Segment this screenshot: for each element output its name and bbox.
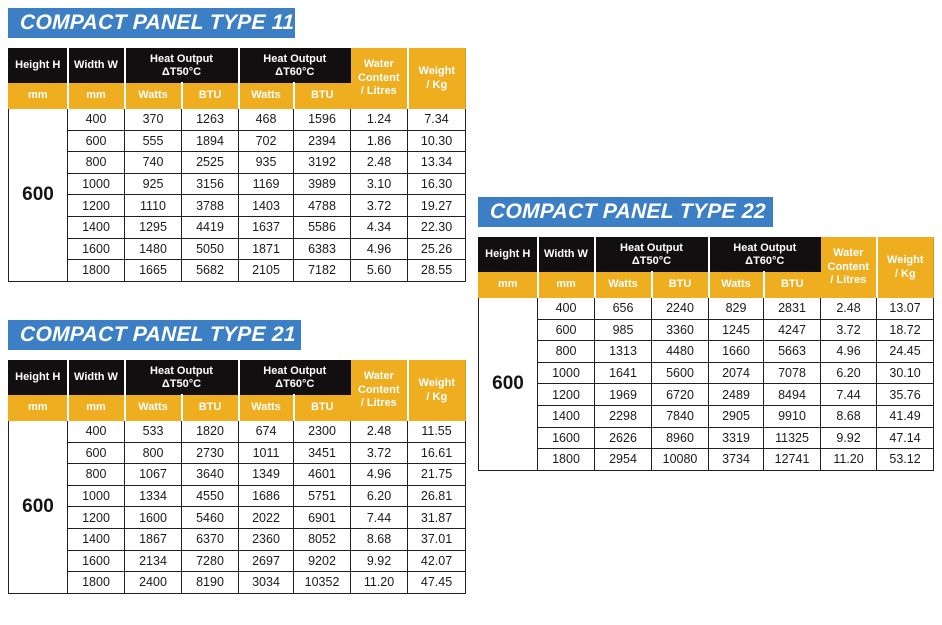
cell-btu-dt50: 3640	[182, 464, 239, 486]
table-row: 800740252593531922.4813.34	[9, 152, 466, 174]
col-width-w: Width W	[538, 238, 595, 272]
cell-btu-dt60: 1596	[294, 109, 351, 131]
dt60-label: ΔT60°C	[240, 378, 351, 391]
weight-line-2: / Kg	[409, 391, 466, 404]
cell-watts-dt50: 1295	[125, 216, 182, 238]
cell-btu-dt60: 10352	[294, 572, 351, 594]
cell-water-content: 6.20	[821, 362, 877, 384]
cell-weight: 16.61	[408, 442, 466, 464]
cell-watts-dt60: 674	[239, 421, 294, 443]
unit-height-mm: mm	[479, 272, 538, 298]
dt50-label: ΔT50°C	[596, 255, 708, 268]
cell-width: 1200	[68, 507, 125, 529]
cell-watts-dt50: 656	[595, 298, 652, 320]
table-type-22: Height H Width W Heat Output ΔT50°C Heat…	[478, 237, 934, 471]
water-line-3: / Litres	[351, 85, 407, 98]
cell-water-content: 4.34	[351, 216, 408, 238]
heat-output-label: Heat Output	[126, 53, 238, 66]
cell-btu-dt50: 8960	[652, 427, 709, 449]
cell-water-content: 4.96	[351, 464, 408, 486]
cell-btu-dt60: 2831	[764, 298, 821, 320]
cell-width: 800	[68, 152, 125, 174]
unit-width-mm: mm	[68, 395, 125, 421]
cell-width: 400	[68, 421, 125, 443]
cell-btu-dt50: 10080	[652, 449, 709, 471]
cell-btu-dt50: 4550	[182, 485, 239, 507]
col-height-h: Height H	[9, 361, 68, 395]
table-row: 80013134480166056634.9624.45	[479, 341, 934, 363]
unit-watts-dt60: Watts	[709, 272, 764, 298]
dt60-label: ΔT60°C	[240, 66, 351, 79]
cell-weight: 24.45	[877, 341, 934, 363]
cell-watts-dt60: 1245	[709, 319, 764, 341]
cell-btu-dt50: 8190	[182, 572, 239, 594]
table-row: 10009253156116939893.1016.30	[9, 173, 466, 195]
cell-weight: 10.30	[408, 130, 466, 152]
cell-btu-dt50: 1894	[182, 130, 239, 152]
cell-water-content: 4.96	[821, 341, 877, 363]
cell-water-content: 11.20	[821, 449, 877, 471]
table-row: 140022987840290599108.6841.49	[479, 405, 934, 427]
cell-width: 1000	[68, 485, 125, 507]
table-row: 180029541008037341274111.2053.12	[479, 449, 934, 471]
cell-weight: 16.30	[408, 173, 466, 195]
cell-water-content: 7.44	[821, 384, 877, 406]
table-row: 600400533182067423002.4811.55	[9, 421, 466, 443]
cell-btu-dt60: 9202	[294, 550, 351, 572]
cell-btu-dt60: 4247	[764, 319, 821, 341]
cell-weight: 42.07	[408, 550, 466, 572]
cell-btu-dt60: 2300	[294, 421, 351, 443]
table-body-type-22: 600400656224082928312.4813.0760098533601…	[479, 298, 934, 471]
cell-btu-dt60: 5586	[294, 216, 351, 238]
cell-width: 1400	[538, 405, 595, 427]
col-heat-output-dt50: Heat Output ΔT50°C	[595, 238, 709, 272]
cell-watts-dt50: 2134	[125, 550, 182, 572]
unit-watts-dt50: Watts	[125, 83, 182, 109]
weight-line-1: Weight	[409, 377, 466, 390]
cell-weight: 13.34	[408, 152, 466, 174]
cell-water-content: 2.48	[821, 298, 877, 320]
col-height-h: Height H	[479, 238, 538, 272]
cell-width: 1400	[68, 216, 125, 238]
banner-type-22: COMPACT PANEL TYPE 22	[478, 197, 773, 227]
table-header-row-1: Height H Width W Heat Output ΔT50°C Heat…	[9, 361, 466, 395]
banner-title-type-22: COMPACT PANEL TYPE 22	[490, 200, 767, 224]
unit-width-mm: mm	[538, 272, 595, 298]
cell-width: 800	[538, 341, 595, 363]
water-line-1: Water	[351, 58, 407, 71]
cell-weight: 21.75	[408, 464, 466, 486]
cell-weight: 35.76	[877, 384, 934, 406]
cell-btu-dt50: 5682	[182, 260, 239, 282]
cell-weight: 22.30	[408, 216, 466, 238]
table-header-row-1: Height H Width W Heat Output ΔT50°C Heat…	[479, 238, 934, 272]
cell-weight: 41.49	[877, 405, 934, 427]
cell-water-content: 3.72	[351, 195, 408, 217]
table-row: 100016415600207470786.2030.10	[479, 362, 934, 384]
cell-watts-dt60: 2489	[709, 384, 764, 406]
heat-output-label: Heat Output	[596, 242, 708, 255]
table-type-21: Height H Width W Heat Output ΔT50°C Heat…	[8, 360, 466, 594]
cell-watts-dt50: 1334	[125, 485, 182, 507]
unit-btu-dt60: BTU	[294, 83, 351, 109]
cell-btu-dt50: 1820	[182, 421, 239, 443]
cell-width: 1800	[68, 260, 125, 282]
col-heat-output-dt50: Heat Output ΔT50°C	[125, 361, 239, 395]
water-line-1: Water	[821, 247, 876, 260]
cell-width: 1800	[68, 572, 125, 594]
table-row: 80010673640134946014.9621.75	[9, 464, 466, 486]
cell-weight: 47.45	[408, 572, 466, 594]
col-heat-output-dt60: Heat Output ΔT60°C	[239, 361, 351, 395]
water-line-2: Content	[821, 261, 876, 274]
cell-btu-dt60: 8052	[294, 528, 351, 550]
cell-watts-dt50: 1067	[125, 464, 182, 486]
cell-watts-dt60: 2074	[709, 362, 764, 384]
panel-specification-sheet: COMPACT PANEL TYPE 11 Height H Width W H…	[0, 0, 942, 625]
cell-water-content: 3.72	[821, 319, 877, 341]
unit-btu-dt50: BTU	[182, 395, 239, 421]
cell-width: 400	[68, 109, 125, 131]
table-row: 600400656224082928312.4813.07	[479, 298, 934, 320]
cell-weight: 18.72	[877, 319, 934, 341]
cell-btu-dt50: 3156	[182, 173, 239, 195]
cell-width: 800	[68, 464, 125, 486]
cell-btu-dt50: 2525	[182, 152, 239, 174]
cell-watts-dt60: 1403	[239, 195, 294, 217]
cell-weight: 28.55	[408, 260, 466, 282]
weight-line-1: Weight	[878, 254, 934, 267]
cell-width: 1600	[68, 238, 125, 260]
water-line-3: / Litres	[821, 274, 876, 287]
banner-type-11: COMPACT PANEL TYPE 11	[8, 8, 295, 38]
cell-btu-dt60: 3451	[294, 442, 351, 464]
heat-output-label: Heat Output	[710, 242, 821, 255]
cell-water-content: 9.92	[351, 550, 408, 572]
cell-btu-dt50: 5600	[652, 362, 709, 384]
cell-btu-dt50: 5050	[182, 238, 239, 260]
cell-watts-dt60: 2105	[239, 260, 294, 282]
unit-width-mm: mm	[68, 83, 125, 109]
table-row: 600555189470223941.8610.30	[9, 130, 466, 152]
col-width-w: Width W	[68, 49, 125, 83]
cell-btu-dt50: 6720	[652, 384, 709, 406]
table-row: 6009853360124542473.7218.72	[479, 319, 934, 341]
cell-water-content: 8.68	[821, 405, 877, 427]
cell-btu-dt50: 2730	[182, 442, 239, 464]
cell-btu-dt50: 4480	[652, 341, 709, 363]
cell-water-content: 1.86	[351, 130, 408, 152]
unit-watts-dt50: Watts	[595, 272, 652, 298]
col-heat-output-dt50: Heat Output ΔT50°C	[125, 49, 239, 83]
cell-weight: 53.12	[877, 449, 934, 471]
banner-type-21: COMPACT PANEL TYPE 21	[8, 320, 301, 350]
cell-water-content: 2.48	[351, 152, 408, 174]
cell-water-content: 8.68	[351, 528, 408, 550]
cell-weight: 25.26	[408, 238, 466, 260]
cell-watts-dt60: 1871	[239, 238, 294, 260]
cell-width: 600	[538, 319, 595, 341]
cell-btu-dt50: 1263	[182, 109, 239, 131]
cell-btu-dt60: 8494	[764, 384, 821, 406]
unit-height-mm: mm	[9, 395, 68, 421]
cell-height-h: 600	[9, 421, 68, 594]
col-weight: Weight / Kg	[408, 361, 466, 421]
cell-weight: 37.01	[408, 528, 466, 550]
cell-watts-dt50: 2626	[595, 427, 652, 449]
cell-btu-dt50: 7840	[652, 405, 709, 427]
cell-watts-dt50: 1641	[595, 362, 652, 384]
cell-watts-dt50: 1600	[125, 507, 182, 529]
cell-btu-dt60: 6901	[294, 507, 351, 529]
cell-height-h: 600	[479, 298, 538, 471]
table-row: 120011103788140347883.7219.27	[9, 195, 466, 217]
cell-weight: 47.14	[877, 427, 934, 449]
cell-btu-dt60: 2394	[294, 130, 351, 152]
cell-watts-dt50: 555	[125, 130, 182, 152]
table-row: 120016005460202269017.4431.87	[9, 507, 466, 529]
cell-water-content: 4.96	[351, 238, 408, 260]
cell-btu-dt50: 6370	[182, 528, 239, 550]
cell-btu-dt60: 4601	[294, 464, 351, 486]
cell-btu-dt60: 9910	[764, 405, 821, 427]
cell-water-content: 3.10	[351, 173, 408, 195]
water-line-3: / Litres	[351, 397, 407, 410]
cell-water-content: 11.20	[351, 572, 408, 594]
banner-title-type-21: COMPACT PANEL TYPE 21	[20, 323, 297, 347]
weight-line-1: Weight	[409, 65, 466, 78]
table-row: 120019696720248984947.4435.76	[479, 384, 934, 406]
table-row: 160021347280269792029.9242.07	[9, 550, 466, 572]
cell-watts-dt60: 1660	[709, 341, 764, 363]
cell-watts-dt60: 829	[709, 298, 764, 320]
weight-line-2: / Kg	[409, 79, 466, 92]
cell-watts-dt60: 935	[239, 152, 294, 174]
cell-btu-dt50: 4419	[182, 216, 239, 238]
col-weight: Weight / Kg	[408, 49, 466, 109]
col-width-w: Width W	[68, 361, 125, 395]
cell-height-h: 600	[9, 109, 68, 282]
cell-btu-dt50: 5460	[182, 507, 239, 529]
heat-output-label: Heat Output	[240, 53, 351, 66]
col-water-content: Water Content / Litres	[351, 49, 408, 109]
cell-width: 600	[68, 130, 125, 152]
cell-btu-dt60: 3192	[294, 152, 351, 174]
cell-watts-dt60: 1637	[239, 216, 294, 238]
cell-watts-dt50: 925	[125, 173, 182, 195]
unit-btu-dt60: BTU	[764, 272, 821, 298]
cell-watts-dt50: 2954	[595, 449, 652, 471]
unit-watts-dt60: Watts	[239, 395, 294, 421]
cell-watts-dt50: 1867	[125, 528, 182, 550]
cell-watts-dt50: 1110	[125, 195, 182, 217]
cell-watts-dt60: 3734	[709, 449, 764, 471]
dt50-label: ΔT50°C	[126, 378, 238, 391]
cell-btu-dt60: 11325	[764, 427, 821, 449]
cell-watts-dt60: 2905	[709, 405, 764, 427]
cell-watts-dt60: 2022	[239, 507, 294, 529]
cell-water-content: 5.60	[351, 260, 408, 282]
col-weight: Weight / Kg	[877, 238, 934, 298]
cell-width: 1200	[68, 195, 125, 217]
cell-width: 400	[538, 298, 595, 320]
cell-btu-dt60: 5663	[764, 341, 821, 363]
weight-line-2: / Kg	[878, 268, 934, 281]
cell-width: 1800	[538, 449, 595, 471]
col-water-content: Water Content / Litres	[351, 361, 408, 421]
table-row: 1600262689603319113259.9247.14	[479, 427, 934, 449]
col-heat-output-dt60: Heat Output ΔT60°C	[239, 49, 351, 83]
cell-water-content: 3.72	[351, 442, 408, 464]
cell-watts-dt60: 1169	[239, 173, 294, 195]
cell-water-content: 1.24	[351, 109, 408, 131]
cell-width: 1000	[68, 173, 125, 195]
cell-watts-dt50: 800	[125, 442, 182, 464]
cell-water-content: 2.48	[351, 421, 408, 443]
cell-weight: 13.07	[877, 298, 934, 320]
cell-btu-dt60: 6383	[294, 238, 351, 260]
cell-watts-dt60: 3034	[239, 572, 294, 594]
cell-btu-dt50: 3360	[652, 319, 709, 341]
cell-watts-dt50: 1665	[125, 260, 182, 282]
unit-btu-dt50: BTU	[652, 272, 709, 298]
cell-watts-dt60: 3319	[709, 427, 764, 449]
cell-watts-dt50: 533	[125, 421, 182, 443]
cell-watts-dt60: 1686	[239, 485, 294, 507]
unit-btu-dt60: BTU	[294, 395, 351, 421]
table-row: 160014805050187163834.9625.26	[9, 238, 466, 260]
cell-width: 1600	[68, 550, 125, 572]
cell-watts-dt50: 2400	[125, 572, 182, 594]
heat-output-label: Heat Output	[126, 365, 238, 378]
cell-btu-dt60: 5751	[294, 485, 351, 507]
cell-width: 600	[68, 442, 125, 464]
dt60-label: ΔT60°C	[710, 255, 821, 268]
table-row: 180016655682210571825.6028.55	[9, 260, 466, 282]
water-line-2: Content	[351, 384, 407, 397]
cell-water-content: 9.92	[821, 427, 877, 449]
cell-weight: 7.34	[408, 109, 466, 131]
cell-btu-dt60: 7078	[764, 362, 821, 384]
cell-watts-dt50: 2298	[595, 405, 652, 427]
table-row: 100013344550168657516.2026.81	[9, 485, 466, 507]
cell-btu-dt50: 7280	[182, 550, 239, 572]
cell-watts-dt60: 2697	[239, 550, 294, 572]
unit-watts-dt50: Watts	[125, 395, 182, 421]
unit-btu-dt50: BTU	[182, 83, 239, 109]
cell-btu-dt60: 4788	[294, 195, 351, 217]
cell-watts-dt60: 1349	[239, 464, 294, 486]
cell-watts-dt50: 1969	[595, 384, 652, 406]
cell-width: 1400	[68, 528, 125, 550]
cell-watts-dt50: 1480	[125, 238, 182, 260]
cell-watts-dt50: 370	[125, 109, 182, 131]
table-body-type-11: 600400370126346815961.247.34600555189470…	[9, 109, 466, 282]
banner-title-type-11: COMPACT PANEL TYPE 11	[20, 11, 295, 35]
cell-weight: 19.27	[408, 195, 466, 217]
table-row: 18002400819030341035211.2047.45	[9, 572, 466, 594]
cell-btu-dt50: 2240	[652, 298, 709, 320]
water-line-1: Water	[351, 370, 407, 383]
cell-weight: 31.87	[408, 507, 466, 529]
cell-water-content: 7.44	[351, 507, 408, 529]
water-line-2: Content	[351, 72, 407, 85]
cell-btu-dt60: 3989	[294, 173, 351, 195]
cell-btu-dt60: 12741	[764, 449, 821, 471]
cell-weight: 11.55	[408, 421, 466, 443]
col-water-content: Water Content / Litres	[821, 238, 877, 298]
table-row: 600400370126346815961.247.34	[9, 109, 466, 131]
cell-watts-dt60: 702	[239, 130, 294, 152]
table-row: 140012954419163755864.3422.30	[9, 216, 466, 238]
cell-watts-dt60: 468	[239, 109, 294, 131]
cell-width: 1600	[538, 427, 595, 449]
cell-watts-dt50: 740	[125, 152, 182, 174]
cell-width: 1200	[538, 384, 595, 406]
cell-width: 1000	[538, 362, 595, 384]
table-row: 6008002730101134513.7216.61	[9, 442, 466, 464]
table-type-11: Height H Width W Heat Output ΔT50°C Heat…	[8, 48, 466, 282]
table-header-row-1: Height H Width W Heat Output ΔT50°C Heat…	[9, 49, 466, 83]
cell-weight: 26.81	[408, 485, 466, 507]
table-body-type-21: 600400533182067423002.4811.5560080027301…	[9, 421, 466, 594]
table-row: 140018676370236080528.6837.01	[9, 528, 466, 550]
dt50-label: ΔT50°C	[126, 66, 238, 79]
cell-btu-dt50: 3788	[182, 195, 239, 217]
cell-watts-dt60: 2360	[239, 528, 294, 550]
cell-water-content: 6.20	[351, 485, 408, 507]
unit-height-mm: mm	[9, 83, 68, 109]
unit-watts-dt60: Watts	[239, 83, 294, 109]
cell-watts-dt60: 1011	[239, 442, 294, 464]
col-heat-output-dt60: Heat Output ΔT60°C	[709, 238, 821, 272]
heat-output-label: Heat Output	[240, 365, 351, 378]
cell-btu-dt60: 7182	[294, 260, 351, 282]
col-height-h: Height H	[9, 49, 68, 83]
cell-watts-dt50: 985	[595, 319, 652, 341]
cell-weight: 30.10	[877, 362, 934, 384]
cell-watts-dt50: 1313	[595, 341, 652, 363]
